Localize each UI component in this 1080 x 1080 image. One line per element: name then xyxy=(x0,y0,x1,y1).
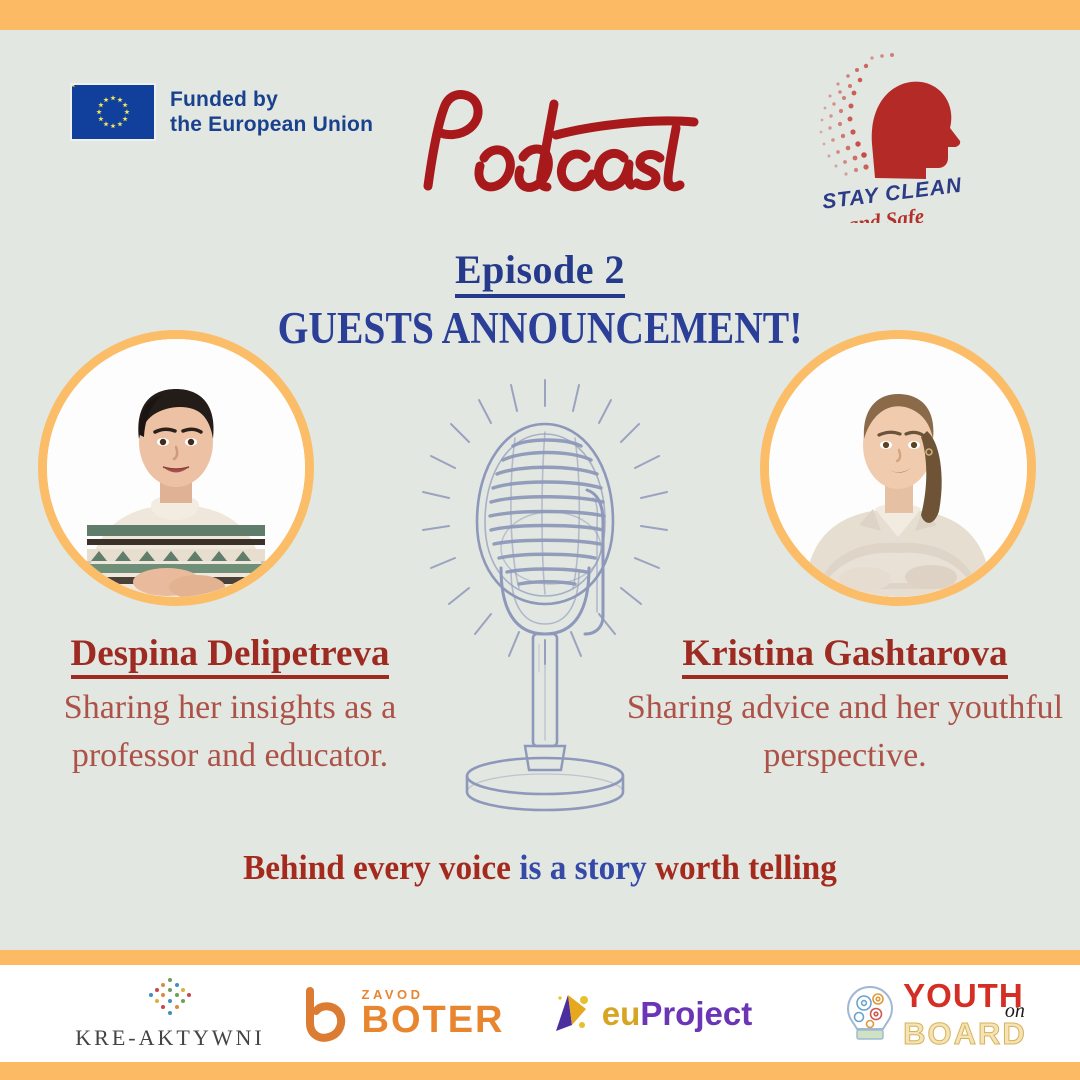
episode-number: Episode 2 xyxy=(0,246,1080,293)
guest-blurb-1: Sharing her insights as a professor and … xyxy=(10,684,450,780)
stay-clean-and-safe-logo: STAY CLEAN and Safe STAY CLEAN and Safe xyxy=(800,48,1010,223)
partner-label-project: Project xyxy=(640,995,752,1032)
partner-label-board: BOARD xyxy=(903,1018,1027,1049)
european-union-flag-icon xyxy=(70,83,156,141)
partner-logo-kre-aktywni: KRE-AKTYWNI xyxy=(55,965,285,1062)
guest-photo-despina xyxy=(38,330,314,606)
mid-accent-bar xyxy=(0,950,1080,965)
guest-blurb-2: Sharing advice and her youthful perspect… xyxy=(625,684,1065,780)
top-accent-bar xyxy=(0,0,1080,30)
tagline-part-3: worth telling xyxy=(655,848,837,887)
guest-name-2: Kristina Gashtarova xyxy=(610,632,1080,675)
partner-logo-zavod-boter: ZAVOD BOTER xyxy=(285,965,515,1062)
podcast-announcement-poster: Funded by the European Union xyxy=(0,0,1080,1080)
partner-label-on: on xyxy=(1005,1001,1025,1021)
tagline-part-1: Behind every voice xyxy=(243,848,511,887)
partner-label-eu: eu xyxy=(602,995,641,1032)
euproject-paperplane-icon xyxy=(548,991,594,1037)
partner-label-boter: BOTER xyxy=(362,1001,505,1039)
guest-photo-kristina xyxy=(760,330,1036,606)
eu-funding-label: Funded by the European Union xyxy=(170,87,373,137)
kre-aktywni-diamond-icon xyxy=(135,976,205,1020)
guest-name-1: Despina Delipetreva xyxy=(0,632,465,675)
partner-logo-youth-on-board: YOUTH on BOARD xyxy=(810,965,1060,1062)
lightbulb-gears-icon xyxy=(843,983,897,1045)
podcast-wordmark xyxy=(410,78,710,208)
bottom-accent-bar xyxy=(0,1062,1080,1080)
tagline-part-2: is a story xyxy=(519,848,646,887)
tagline: Behind every voice is a story worth tell… xyxy=(27,848,1053,888)
partner-label-kre-aktywni: KRE-AKTYWNI xyxy=(75,1025,264,1051)
eu-funding-logo: Funded by the European Union xyxy=(70,83,373,141)
boter-b-mark-icon xyxy=(296,985,354,1043)
partner-logo-euproject: euProject xyxy=(530,965,770,1062)
